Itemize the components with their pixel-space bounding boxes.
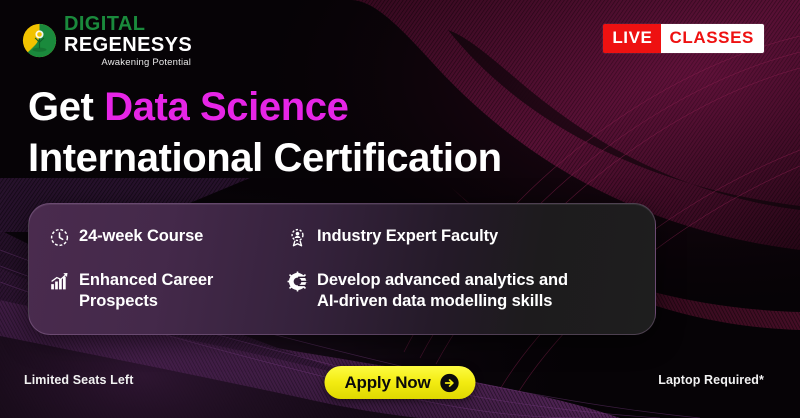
feature-label-skills: Develop advanced analytics and AI-driven…	[317, 270, 568, 313]
feature-item-career: Enhanced Career Prospects	[49, 270, 284, 313]
feature-line: 24-week Course	[79, 226, 203, 247]
feature-item-skills: Develop advanced analytics and AI-driven…	[287, 270, 655, 313]
apply-now-button[interactable]: Apply Now	[324, 366, 475, 399]
headline-line-1: Get Data Science	[28, 82, 502, 133]
apply-now-label: Apply Now	[344, 373, 430, 393]
live-classes-badge: LIVE CLASSES	[603, 24, 764, 53]
badge-classes-label: CLASSES	[661, 24, 765, 53]
limited-seats-note: Limited Seats Left	[24, 373, 133, 387]
feature-line: AI-driven data modelling skills	[317, 291, 568, 312]
brand-line-digital: DIGITAL	[64, 14, 192, 34]
features-column-right: Industry Expert Faculty	[284, 226, 655, 314]
bar-chart-growth-icon	[49, 271, 70, 292]
headline-line-2: International Certification	[28, 133, 502, 184]
brand-wordmark: DIGITAL REGENESYS Awakening Potential	[64, 14, 192, 68]
feature-line: Industry Expert Faculty	[317, 226, 498, 247]
laptop-required-note: Laptop Required*	[658, 373, 764, 387]
features-column-left: 24-week Course Enhanced Career	[29, 226, 284, 314]
feature-item-duration: 24-week Course	[49, 226, 284, 248]
badge-live-label: LIVE	[603, 24, 660, 53]
headline-plain: Get	[28, 85, 104, 129]
brand-tagline: Awakening Potential	[101, 58, 192, 68]
features-card: 24-week Course Enhanced Career	[28, 203, 656, 335]
arrow-right-circle-icon	[440, 373, 460, 393]
feature-item-faculty: Industry Expert Faculty	[287, 226, 655, 248]
feature-label-faculty: Industry Expert Faculty	[317, 226, 498, 247]
brand-line-regenesys: REGENESYS	[64, 35, 192, 55]
brand-logo[interactable]: DIGITAL REGENESYS Awakening Potential	[22, 14, 192, 68]
headline-accent: Data Science	[104, 85, 348, 129]
tree-emblem-icon	[22, 23, 57, 58]
feature-line: Prospects	[79, 291, 213, 312]
feature-line: Enhanced Career	[79, 270, 213, 291]
feature-label-career: Enhanced Career Prospects	[79, 270, 213, 313]
page-title: Get Data Science International Certifica…	[28, 82, 502, 184]
feature-line: Develop advanced analytics and	[317, 270, 568, 291]
feature-label-duration: 24-week Course	[79, 226, 203, 247]
award-badge-icon	[287, 227, 308, 248]
gear-circuit-icon	[287, 271, 308, 292]
clock-icon	[49, 227, 70, 248]
promo-banner: DIGITAL REGENESYS Awakening Potential LI…	[0, 0, 800, 418]
